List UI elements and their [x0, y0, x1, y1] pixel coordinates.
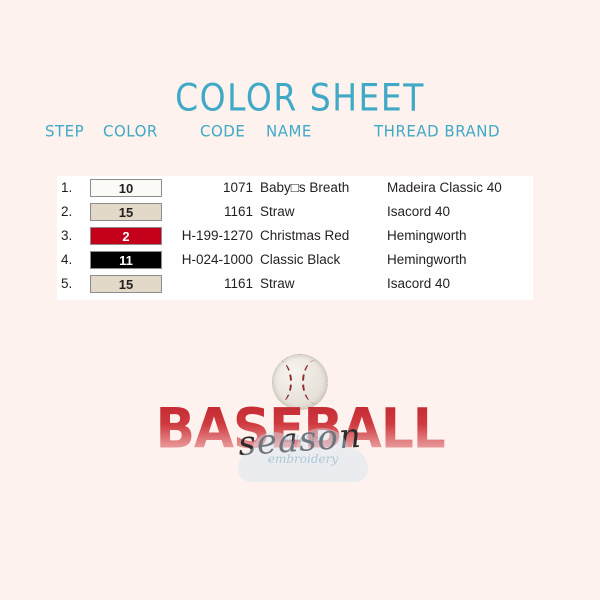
row-code: 1161 — [161, 200, 253, 224]
row-step-number: 2. — [61, 200, 87, 224]
row-color-name: Straw — [260, 200, 295, 224]
row-thread-brand: Hemingworth — [387, 248, 467, 272]
column-header-step: STEP — [45, 121, 84, 140]
color-list-table: 1. 10 1071 Baby□s Breath Madeira Classic… — [57, 176, 533, 300]
table-row: 2. 15 1161 Straw Isacord 40 — [57, 200, 533, 224]
row-thread-brand: Isacord 40 — [387, 200, 450, 224]
color-swatch: 15 — [90, 275, 162, 293]
row-code: 1161 — [161, 272, 253, 296]
watermark-line-2: embroidery — [238, 452, 368, 466]
color-swatch: 15 — [90, 203, 162, 221]
column-header-brand: THREAD BRAND — [374, 121, 500, 140]
color-swatch: 2 — [90, 227, 162, 245]
row-thread-brand: Hemingworth — [387, 224, 467, 248]
table-row: 5. 15 1161 Straw Isacord 40 — [57, 272, 533, 296]
row-color-name: Classic Black — [260, 248, 340, 272]
row-thread-brand: Isacord 40 — [387, 272, 450, 296]
row-step-number: 5. — [61, 272, 87, 296]
row-code: H-024-1000 — [161, 248, 253, 272]
row-step-number: 1. — [61, 176, 87, 200]
row-thread-brand: Madeira Classic 40 — [387, 176, 502, 200]
page-title: COLOR SHEET — [0, 76, 600, 120]
color-swatch: 11 — [90, 251, 162, 269]
row-step-number: 4. — [61, 248, 87, 272]
watermark-line-1: stitches — [238, 434, 368, 445]
table-row: 4. 11 H-024-1000 Classic Black Hemingwor… — [57, 248, 533, 272]
color-swatch: 10 — [90, 179, 162, 197]
row-color-name: Baby□s Breath — [260, 176, 349, 200]
row-color-name: Straw — [260, 272, 295, 296]
design-preview-logo: BASEBALL season stitches embroidery — [0, 352, 600, 502]
column-header-color: COLOR — [103, 121, 158, 140]
column-headers: STEP COLOR CODE NAME THREAD BRAND — [0, 122, 600, 144]
column-header-code: CODE — [200, 121, 245, 140]
row-step-number: 3. — [61, 224, 87, 248]
row-code: H-199-1270 — [161, 224, 253, 248]
column-header-name: NAME — [266, 121, 312, 140]
row-code: 1071 — [161, 176, 253, 200]
row-color-name: Christmas Red — [260, 224, 349, 248]
table-row: 1. 10 1071 Baby□s Breath Madeira Classic… — [57, 176, 533, 200]
table-row: 3. 2 H-199-1270 Christmas Red Hemingwort… — [57, 224, 533, 248]
watermark: stitches embroidery — [238, 432, 368, 484]
